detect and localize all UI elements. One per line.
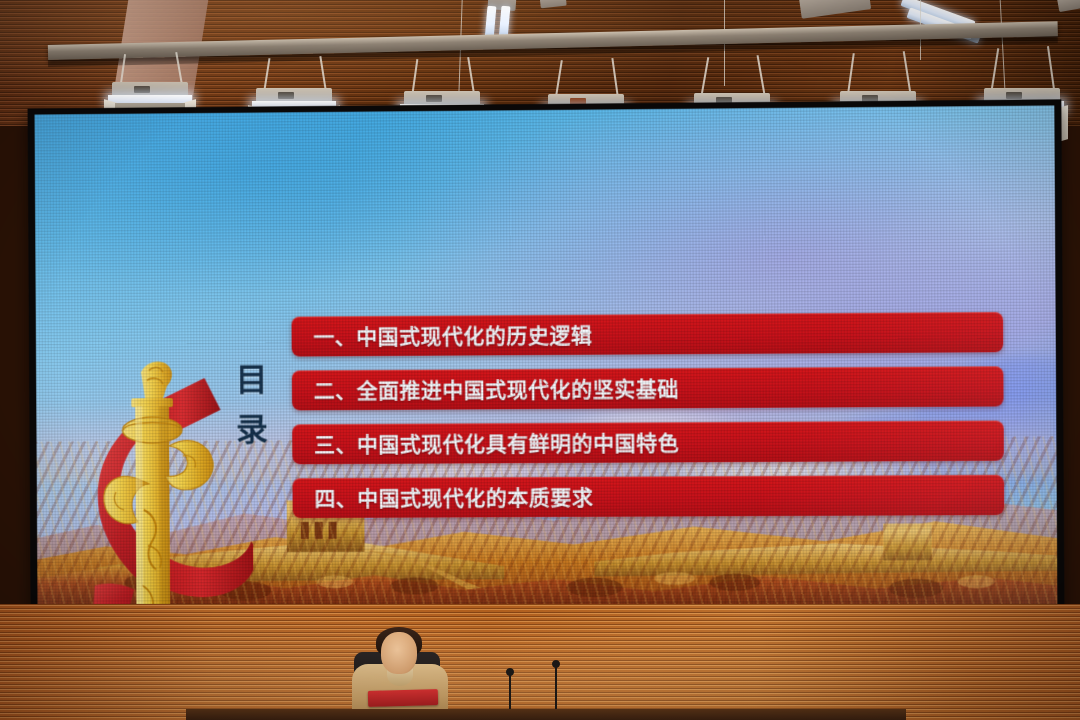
toc-item-2[interactable]: 二、全面推进中国式现代化的坚实基础 xyxy=(292,366,1004,410)
led-screen-frame: 目 录 一、中国式现代化的历史逻辑 二、全面推进中国式现代化的坚实基础 三、中国… xyxy=(28,99,1065,617)
page-title: 目 录 xyxy=(222,356,282,455)
toc-item-3-label: 三、中国式现代化具有鲜明的中国特色 xyxy=(314,427,679,459)
red-booklet xyxy=(368,689,438,707)
presenter-desk xyxy=(186,709,906,720)
screenshot-root: 目 录 一、中国式现代化的历史逻辑 二、全面推进中国式现代化的坚实基础 三、中国… xyxy=(0,0,1080,720)
toc-item-4-label: 四、中国式现代化的本质要求 xyxy=(314,482,593,513)
presenter-head xyxy=(381,632,417,674)
toc-item-1[interactable]: 一、中国式现代化的历史逻辑 xyxy=(291,312,1003,357)
toc-list: 一、中国式现代化的历史逻辑 二、全面推进中国式现代化的坚实基础 三、中国式现代化… xyxy=(291,312,1004,532)
toc-item-1-label: 一、中国式现代化的历史逻辑 xyxy=(313,320,592,352)
page-title-char-1: 目 xyxy=(222,356,282,406)
toc-item-4[interactable]: 四、中国式现代化的本质要求 xyxy=(292,475,1004,518)
toc-item-2-label: 二、全面推进中国式现代化的坚实基础 xyxy=(314,373,679,405)
toc-item-3[interactable]: 三、中国式现代化具有鲜明的中国特色 xyxy=(292,421,1004,465)
page-title-char-2: 录 xyxy=(222,405,282,455)
led-screen-display: 目 录 一、中国式现代化的历史逻辑 二、全面推进中国式现代化的坚实基础 三、中国… xyxy=(35,105,1058,610)
